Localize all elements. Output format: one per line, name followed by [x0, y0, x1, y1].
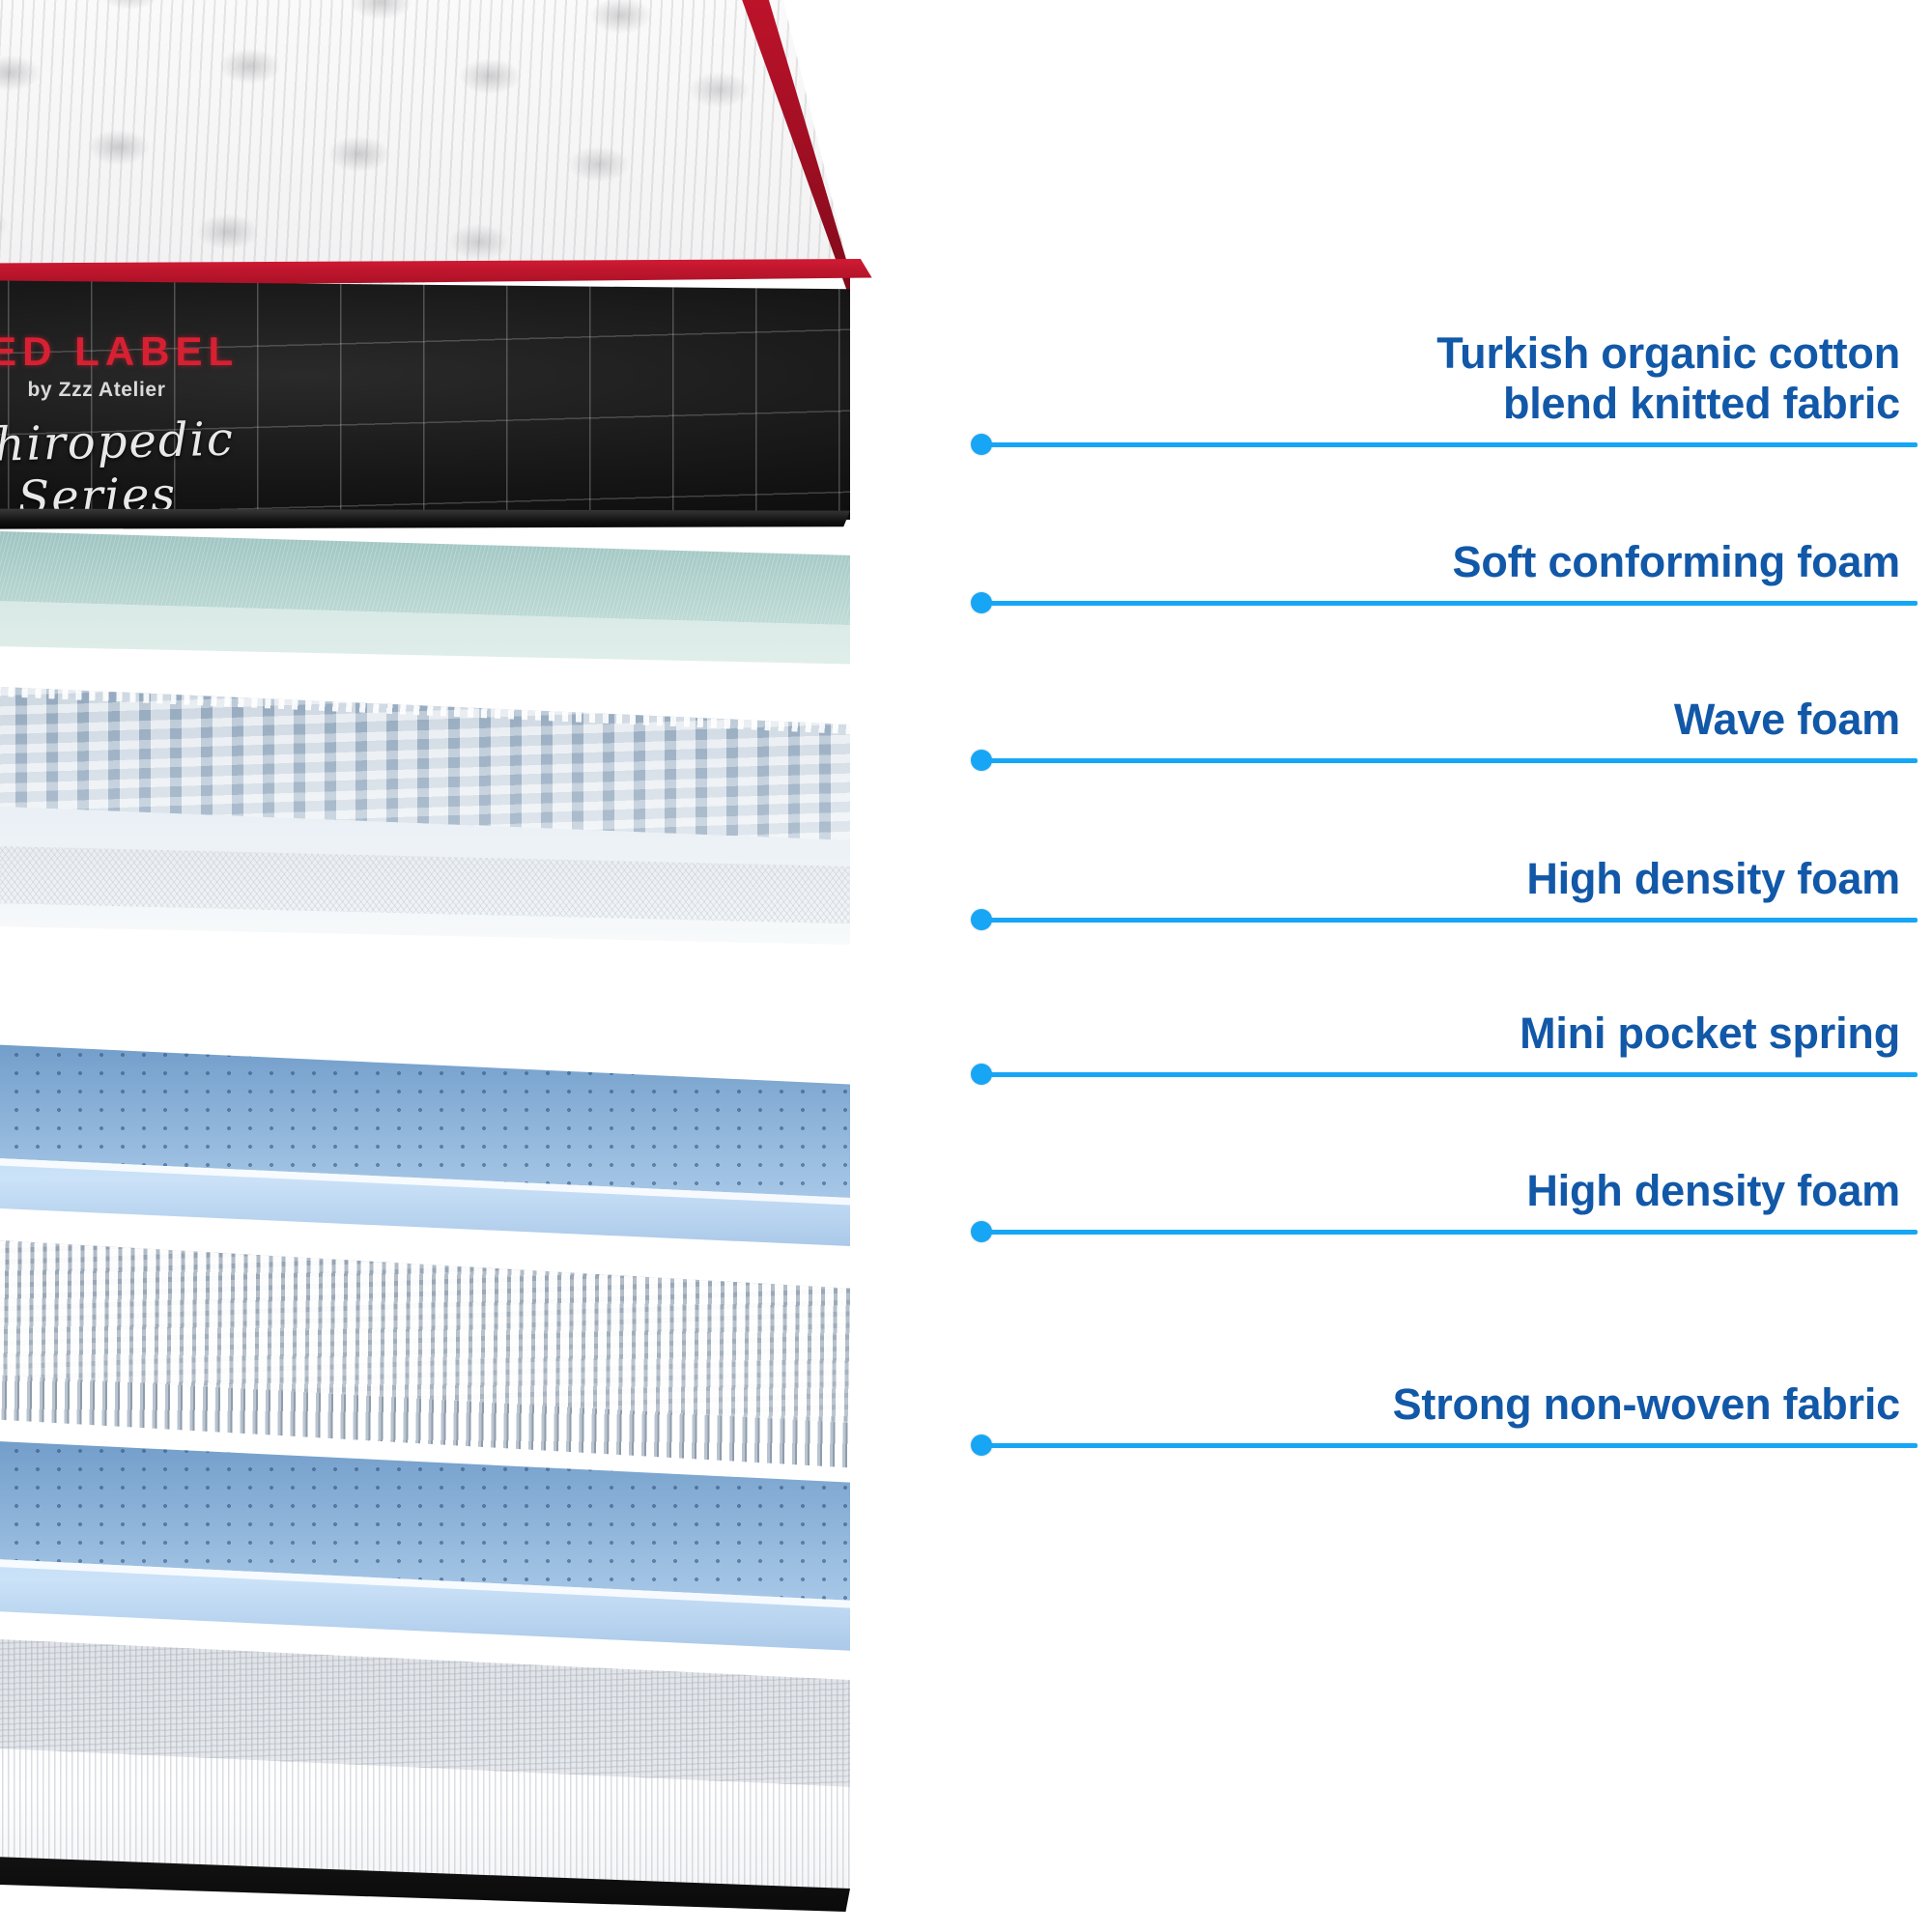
- callout-leader-line: [981, 1443, 1918, 1448]
- callout-leader-line: [981, 1072, 1918, 1077]
- mattress-border-panel: RED LABEL by Zzz Atelier Chiropedic Seri…: [0, 278, 850, 520]
- brand-maker: by Zzz Atelier: [0, 379, 319, 402]
- callout-label: Strong non-woven fabric: [1393, 1379, 1900, 1430]
- base-sheet-top-face: [0, 840, 850, 971]
- callout-leader-line: [981, 442, 1918, 447]
- brand-name: RED LABEL: [0, 328, 319, 375]
- non-woven-fabric-slab: [0, 1628, 850, 1918]
- wave-foam-base-sheet: [0, 840, 850, 971]
- callout-label: Soft conforming foam: [1453, 537, 1900, 587]
- mattress-quilted-top-layer: [0, 0, 850, 299]
- callout-label: High density foam: [1526, 1166, 1900, 1216]
- callout-label: High density foam: [1526, 854, 1900, 904]
- callout-leader-line: [981, 918, 1918, 923]
- callout-label: Wave foam: [1674, 695, 1900, 745]
- brand-logo-block: RED LABEL by Zzz Atelier Chiropedic Seri…: [0, 328, 319, 524]
- soft-conforming-foam-slab: [0, 525, 850, 687]
- callout-leader-line: [981, 601, 1918, 606]
- callout-leader-line: [981, 1230, 1918, 1235]
- callout-leader-line: [981, 758, 1918, 763]
- callout-label: Mini pocket spring: [1520, 1009, 1900, 1059]
- quilted-fabric-surface: [0, 0, 850, 299]
- callout-label: Turkish organic cotton blend knitted fab…: [1436, 328, 1900, 429]
- mattress-layer-diagram: RED LABEL by Zzz Atelier Chiropedic Seri…: [0, 0, 1932, 1932]
